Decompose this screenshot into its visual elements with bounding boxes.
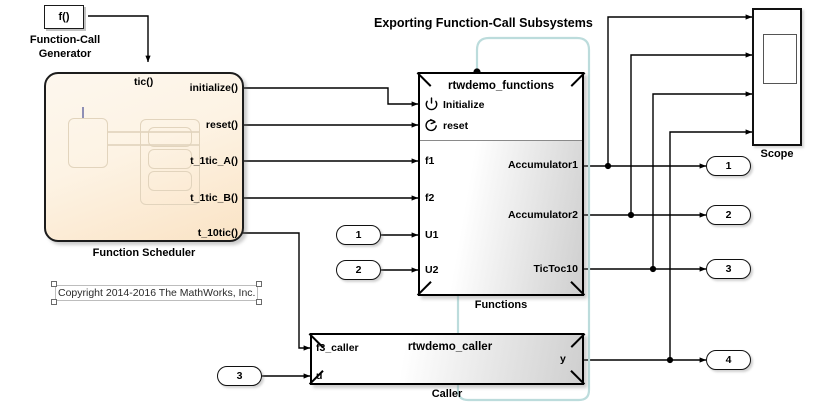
inport-block-1[interactable]: 1 xyxy=(336,225,381,245)
function-call-generator-block[interactable]: f() xyxy=(44,5,84,29)
scope-caption: Scope xyxy=(747,148,807,160)
caller-block-caption: Caller xyxy=(310,388,584,400)
inport-2-label: 2 xyxy=(356,264,362,276)
functions-port-reset[interactable]: reset xyxy=(424,118,468,133)
caller-input-u: u xyxy=(316,370,322,382)
caller-corner-mark-br xyxy=(569,370,582,383)
outport-block-2[interactable]: 2 xyxy=(706,205,751,225)
function-scheduler-output-t1tic-b: t_1tic_B() xyxy=(124,192,238,204)
fcg-caption-line1: Function-Call xyxy=(6,33,124,47)
inport-1-label: 1 xyxy=(356,229,362,241)
sf-default-transition-tick xyxy=(82,107,84,118)
junction-dot-y xyxy=(667,357,673,363)
outport-1-label: 1 xyxy=(726,160,732,172)
caller-input-f3: f3_caller xyxy=(316,342,359,354)
outport-block-3[interactable]: 3 xyxy=(706,259,751,279)
functions-port-reset-label: reset xyxy=(443,120,468,132)
reset-icon xyxy=(424,118,439,133)
outport-2-label: 2 xyxy=(726,209,732,221)
outport-3-label: 3 xyxy=(726,263,732,275)
wire-acc2-scope2 xyxy=(631,55,752,215)
scope-screen xyxy=(763,34,797,84)
copyright-annotation-group[interactable]: Copyright 2014-2016 The MathWorks, Inc. xyxy=(55,285,258,301)
wire-initialize xyxy=(243,88,418,104)
functions-input-u1: U1 xyxy=(425,229,438,241)
function-scheduler-output-t1tic-a: t_1tic_A() xyxy=(124,155,238,167)
selection-handle-br[interactable] xyxy=(256,299,262,305)
caller-block-title: rtwdemo_caller xyxy=(360,341,540,353)
function-scheduler-caption: Function Scheduler xyxy=(44,247,244,259)
wire-tictoc10-scope3 xyxy=(653,94,752,269)
sf-inner-substate-3 xyxy=(148,171,192,191)
copyright-text: Copyright 2014-2016 The MathWorks, Inc. xyxy=(55,285,258,301)
function-call-generator-caption: Function-Call Generator xyxy=(6,33,124,61)
functions-port-initialize[interactable]: Initialize xyxy=(424,97,484,112)
function-scheduler-output-t10tic: t_10tic() xyxy=(124,227,238,239)
junction-dot-acc1 xyxy=(605,163,611,169)
junction-dot-tictoc10 xyxy=(650,266,656,272)
scope-block[interactable] xyxy=(752,8,802,146)
function-call-generator-label: f() xyxy=(59,11,70,23)
selection-handle-tr[interactable] xyxy=(256,281,262,287)
functions-block-title: rtwdemo_functions xyxy=(418,80,584,92)
functions-output-accumulator1: Accumulator1 xyxy=(424,159,578,171)
inport-block-3[interactable]: 3 xyxy=(217,366,262,386)
outport-block-4[interactable]: 4 xyxy=(706,350,751,370)
function-scheduler-output-initialize: initialize() xyxy=(134,82,238,94)
outport-block-1[interactable]: 1 xyxy=(706,156,751,176)
corner-mark-br xyxy=(569,281,582,294)
selection-handle-tl[interactable] xyxy=(51,281,57,287)
selection-handle-bl[interactable] xyxy=(51,299,57,305)
functions-output-accumulator2: Accumulator2 xyxy=(424,209,578,221)
simulink-model-canvas[interactable]: Exporting Function-Call Subsystems f() F… xyxy=(0,0,829,419)
junction-dot-acc2 xyxy=(628,212,634,218)
inport-block-2[interactable]: 2 xyxy=(336,260,381,280)
caller-output-y: y xyxy=(560,353,566,365)
caller-corner-mark-tr xyxy=(569,335,582,348)
page-title: Exporting Function-Call Subsystems xyxy=(374,16,593,30)
functions-output-tictoc10: TicToc10 xyxy=(424,263,578,275)
functions-port-initialize-label: Initialize xyxy=(443,99,484,111)
outport-4-label: 4 xyxy=(726,354,732,366)
power-icon xyxy=(424,97,439,112)
wire-acc1-scope1 xyxy=(608,17,752,166)
inport-3-label: 3 xyxy=(237,370,243,382)
sf-inner-state-left xyxy=(68,118,108,168)
fcg-caption-line2: Generator xyxy=(6,47,124,61)
functions-input-f2: f2 xyxy=(425,192,434,204)
functions-block-caption: Functions xyxy=(418,299,584,311)
function-scheduler-output-reset: reset() xyxy=(134,119,238,131)
corner-mark-bl xyxy=(420,281,433,294)
